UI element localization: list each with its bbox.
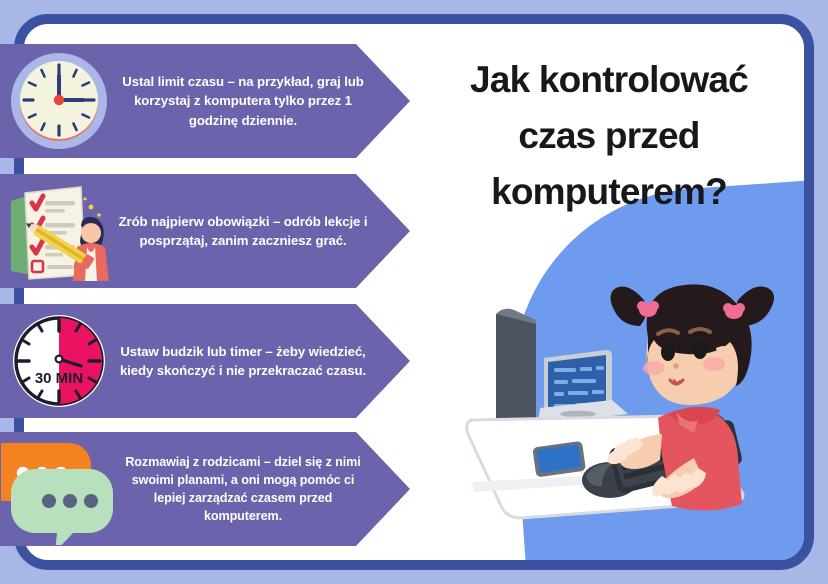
tip-icon-slot: [0, 46, 118, 156]
tip-text-2: Zrób najpierw obowiązki – odrób lekcje i…: [118, 212, 410, 250]
title-line-2: czas przed: [414, 108, 804, 164]
tip-banner-2: Zrób najpierw obowiązki – odrób lekcje i…: [0, 174, 410, 288]
frame-spine-segment: [14, 288, 24, 304]
girl-at-computer-illustration: [462, 262, 792, 562]
frame-spine-segment: [14, 158, 24, 174]
infographic-poster: Jak kontrolować czas przed komputerem?: [0, 0, 828, 584]
tip-text-1: Ustal limit czasu – na przykład, graj lu…: [118, 72, 410, 129]
tip-text-3: Ustaw budzik lub timer – żeby wiedzieć, …: [118, 342, 410, 380]
page-title: Jak kontrolować czas przed komputerem?: [414, 52, 804, 221]
timer-label: 30 MIN: [35, 370, 83, 387]
tip-text-4: Rozmawiaj z rodzicami – dziel się z nimi…: [118, 453, 410, 526]
timer-icon: 30 MIN: [9, 311, 109, 411]
title-line-1: Jak kontrolować: [414, 52, 804, 108]
tip-banner-1: Ustal limit czasu – na przykład, graj lu…: [0, 44, 410, 158]
tip-icon-slot: 30 MIN: [0, 306, 118, 416]
title-line-3: komputerem?: [414, 164, 804, 220]
speech-bubbles-icon: [1, 433, 117, 545]
wall-clock-icon: [7, 49, 111, 153]
tip-icon-slot: [0, 434, 118, 544]
checklist-girl-icon: [3, 177, 115, 285]
tip-icon-slot: [0, 176, 118, 286]
tip-banner-4: Rozmawiaj z rodzicami – dziel się z nimi…: [0, 432, 410, 546]
tip-banner-3: 30 MIN Ustaw budzik lub timer – żeby wie…: [0, 304, 410, 418]
frame-spine-segment: [14, 418, 24, 432]
